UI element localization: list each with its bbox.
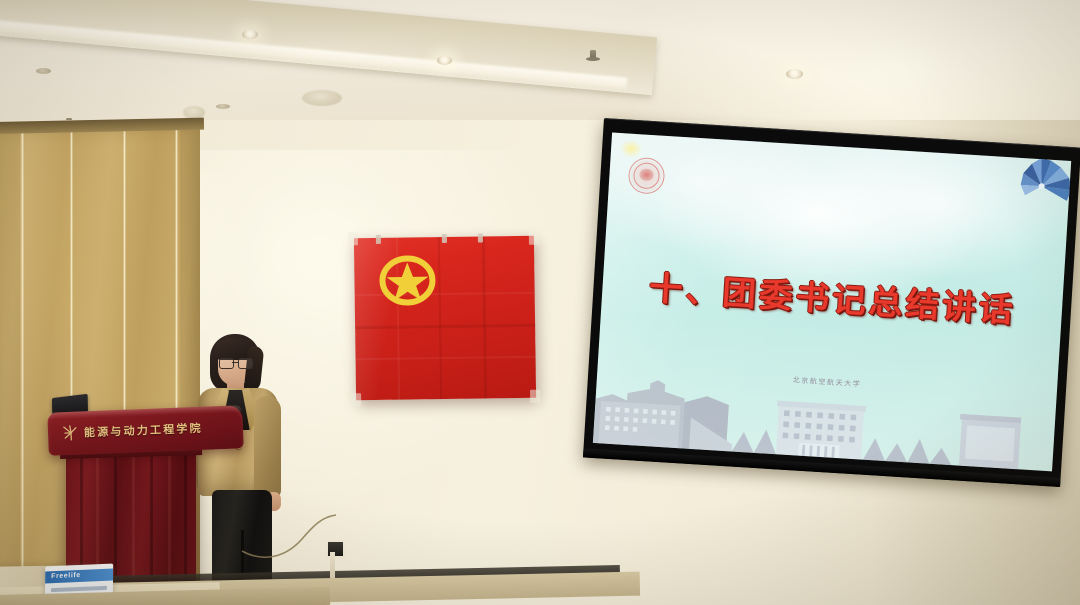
flag-pin	[376, 235, 381, 244]
podium-label: 能源与动力工程学院	[84, 420, 203, 441]
flag-pin	[478, 233, 483, 242]
spark-emblem-icon	[62, 424, 81, 443]
ceiling-vent-icon	[216, 104, 230, 109]
podium-front-panel: 能源与动力工程学院	[47, 405, 244, 455]
partition-shade	[0, 128, 20, 605]
flag-pin	[442, 234, 447, 243]
conference-room-scene: 十、团委书记总结讲话 北京航空航天大学	[0, 0, 1080, 605]
hair-side	[244, 345, 265, 392]
flag-fold	[482, 236, 487, 398]
ceiling-speaker-icon	[302, 90, 342, 106]
blue-fan-logo-icon	[998, 156, 1072, 222]
flag-tape	[351, 393, 361, 406]
flag-tape	[530, 390, 540, 403]
name-card-line	[51, 586, 107, 592]
communist-youth-league-flag	[354, 236, 536, 400]
partition-seam	[21, 128, 24, 605]
flag-fold	[438, 237, 442, 399]
projection-screen[interactable]: 十、团委书记总结讲话 北京航空航天大学	[583, 118, 1080, 487]
downlight	[242, 30, 258, 39]
eyeglasses-icon	[219, 358, 251, 367]
outlet-conduit	[330, 552, 335, 578]
downlight	[437, 56, 452, 65]
name-card-band: Freelife	[45, 568, 113, 583]
projector-hotspot	[620, 139, 643, 158]
wall-outlet-icon	[326, 540, 345, 558]
sprinkler-icon	[590, 50, 596, 60]
flag-tape	[348, 232, 358, 245]
slide-title: 十、团委书记总结讲话	[597, 258, 1068, 335]
downlight	[786, 69, 803, 79]
university-seal-icon	[628, 157, 666, 195]
ceiling-vent-icon	[36, 68, 51, 74]
name-card-text: Freelife	[45, 568, 113, 580]
flag-fold	[355, 324, 535, 330]
presentation-slide: 十、团委书记总结讲话 北京航空航天大学	[593, 133, 1071, 472]
flag-fold	[356, 356, 536, 361]
flag-tape	[529, 232, 539, 245]
star-in-circle-emblem-icon	[379, 254, 436, 307]
right-arm	[254, 396, 281, 500]
